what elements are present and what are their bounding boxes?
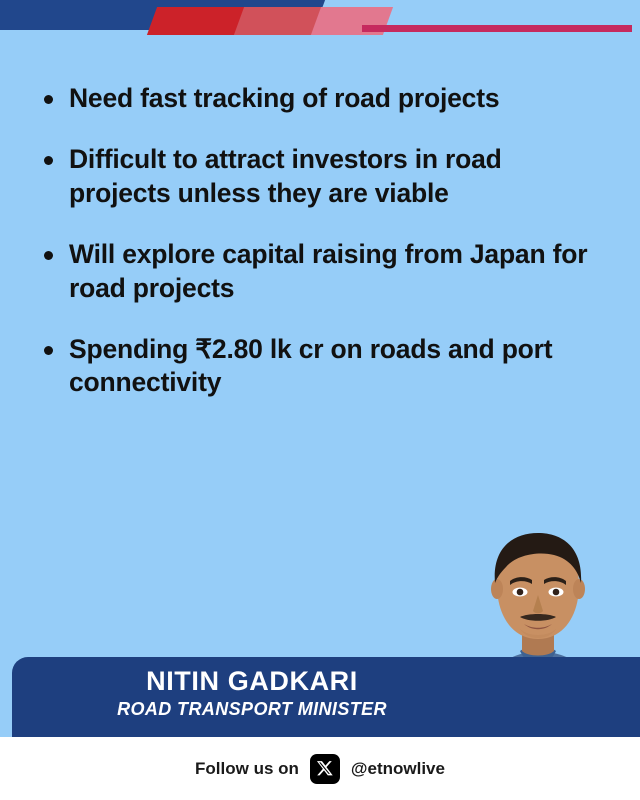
list-item: Difficult to attract investors in road p… xyxy=(44,143,604,210)
speaker-name: NITIN GADKARI xyxy=(12,667,492,696)
list-item: Spending ₹2.80 lk cr on roads and port c… xyxy=(44,333,604,400)
social-handle[interactable]: @etnowlive xyxy=(351,759,445,779)
speaker-name-block: NITIN GADKARI ROAD TRANSPORT MINISTER xyxy=(12,667,492,720)
x-twitter-icon[interactable] xyxy=(310,754,340,784)
bullet-dot-icon xyxy=(44,251,53,260)
header-crimson-line xyxy=(362,25,632,32)
header-red-segment xyxy=(147,7,245,35)
follow-us-group: Follow us on @etnowlive xyxy=(0,737,640,800)
list-item: Will explore capital raising from Japan … xyxy=(44,238,604,305)
bullet-text: Need fast tracking of road projects xyxy=(69,82,604,115)
bullet-text: Spending ₹2.80 lk cr on roads and port c… xyxy=(69,333,604,400)
quote-bullet-list: Need fast tracking of road projects Diff… xyxy=(44,82,604,428)
follow-us-label: Follow us on xyxy=(195,759,299,779)
bullet-dot-icon xyxy=(44,156,53,165)
list-item: Need fast tracking of road projects xyxy=(44,82,604,115)
header-red-mid-segment xyxy=(234,7,322,35)
bullet-dot-icon xyxy=(44,346,53,355)
speaker-role: ROAD TRANSPORT MINISTER xyxy=(12,699,492,720)
bullet-text: Will explore capital raising from Japan … xyxy=(69,238,604,305)
bullet-text: Difficult to attract investors in road p… xyxy=(69,143,604,210)
header-decoration xyxy=(0,0,640,46)
bullet-dot-icon xyxy=(44,95,53,104)
footer-bar: Follow us on @etnowlive E T NOW ET NOW.I… xyxy=(0,737,640,800)
speaker-name-banner: NITIN GADKARI ROAD TRANSPORT MINISTER xyxy=(12,657,640,737)
news-quote-card: Need fast tracking of road projects Diff… xyxy=(0,0,640,800)
